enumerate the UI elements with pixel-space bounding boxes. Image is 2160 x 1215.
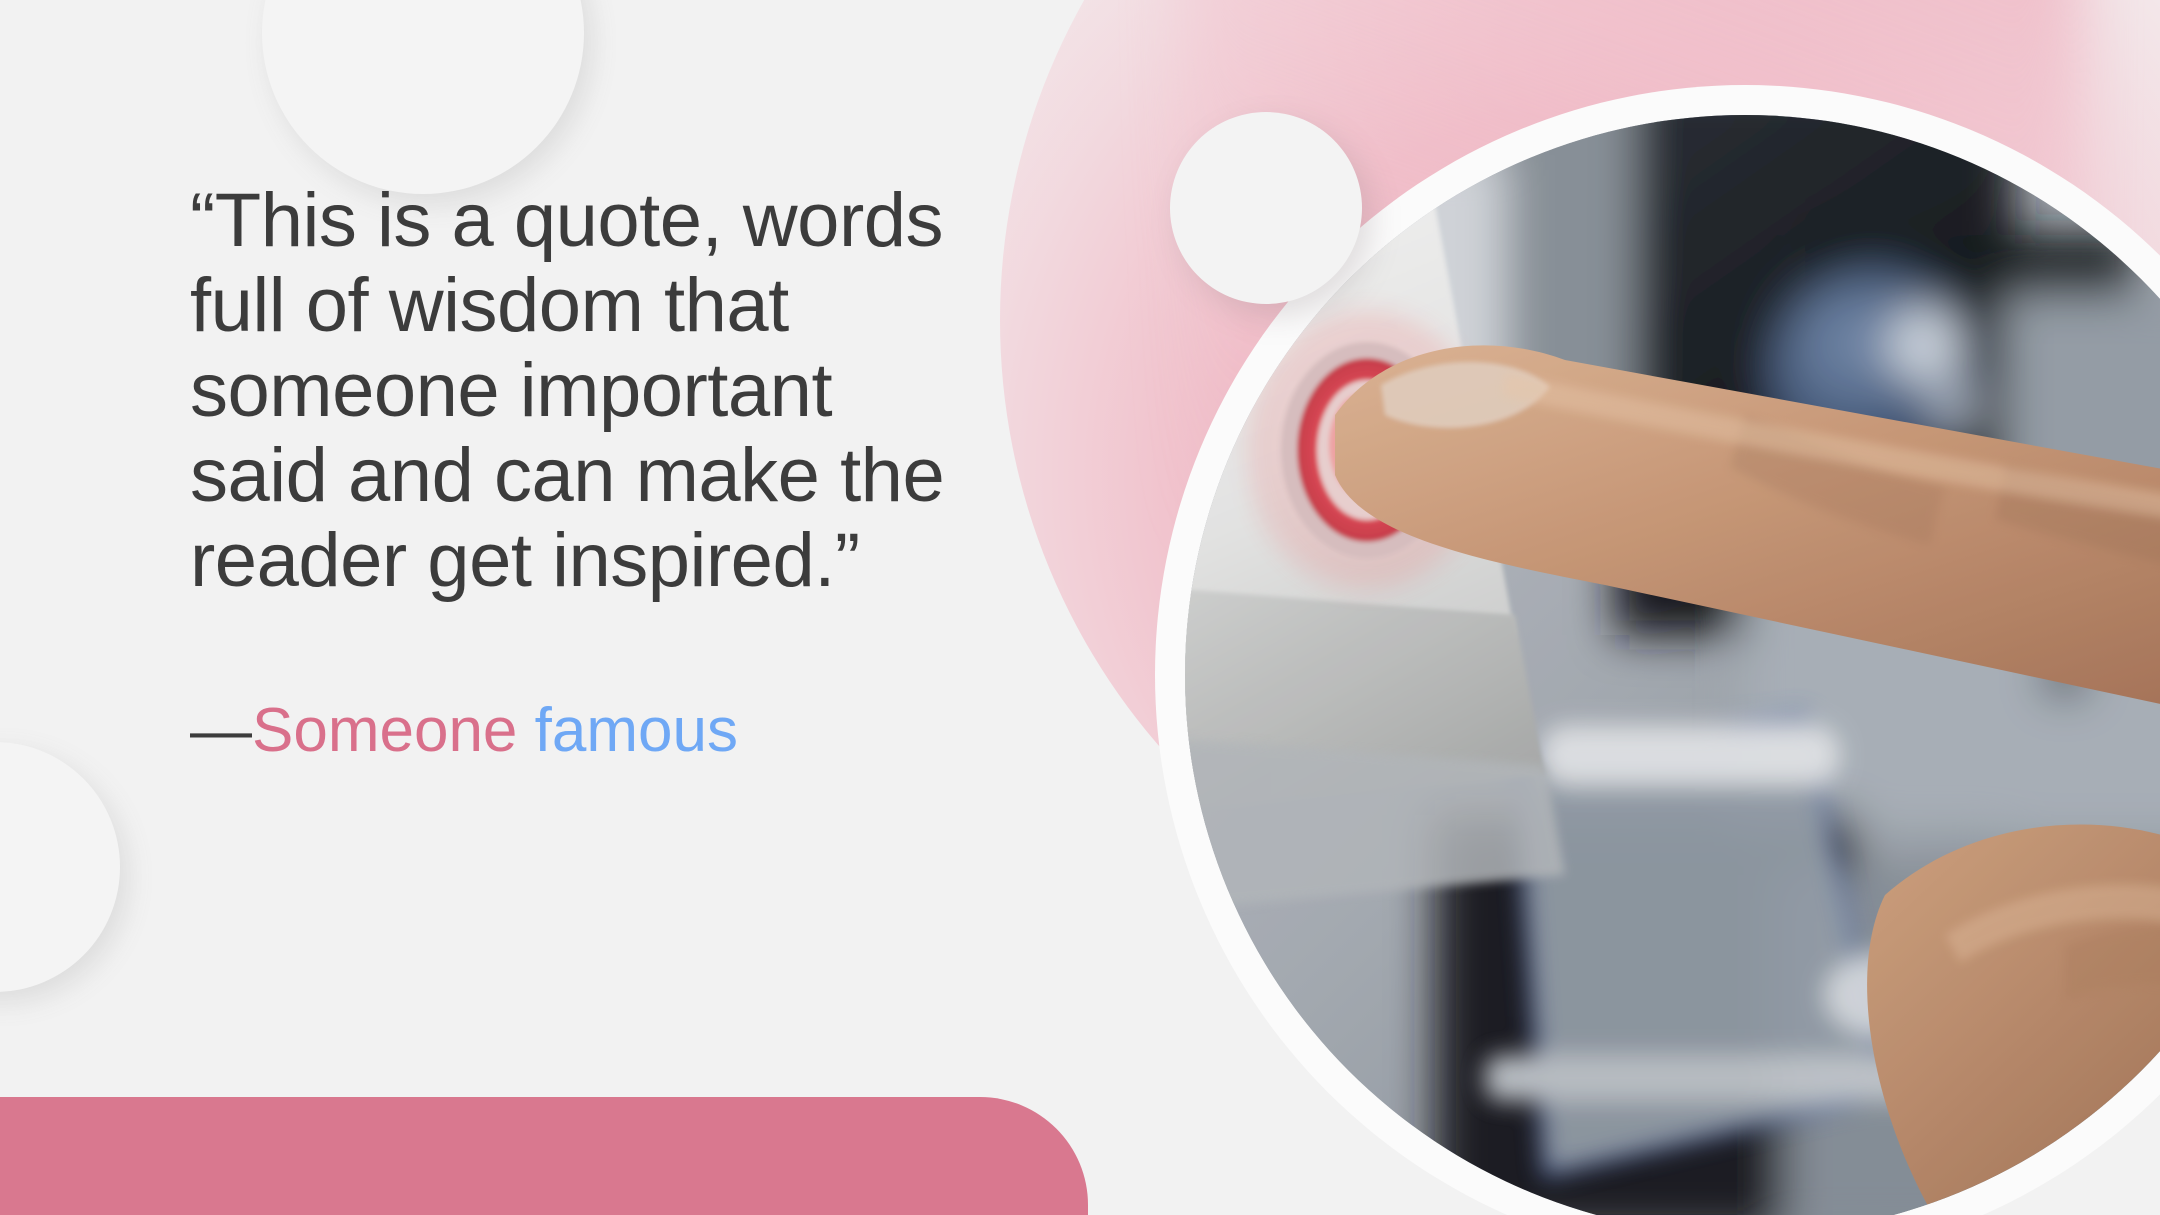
text-block: “This is a quote, words full of wisdom t… <box>190 178 1090 762</box>
quote-slide: “This is a quote, words full of wisdom t… <box>0 0 2160 1215</box>
decorative-circle-top-left <box>262 0 584 194</box>
attribution-name: Someone <box>252 696 517 765</box>
quote-text: “This is a quote, words full of wisdom t… <box>190 178 1090 604</box>
attribution-dash: — <box>190 696 252 765</box>
pink-accent-bar <box>0 1097 1088 1215</box>
decorative-circle-over-photo <box>1170 112 1362 304</box>
attribution-title: famous <box>517 696 738 765</box>
decorative-circle-left-edge <box>0 742 120 992</box>
attribution: —Someone famous <box>190 700 1090 762</box>
